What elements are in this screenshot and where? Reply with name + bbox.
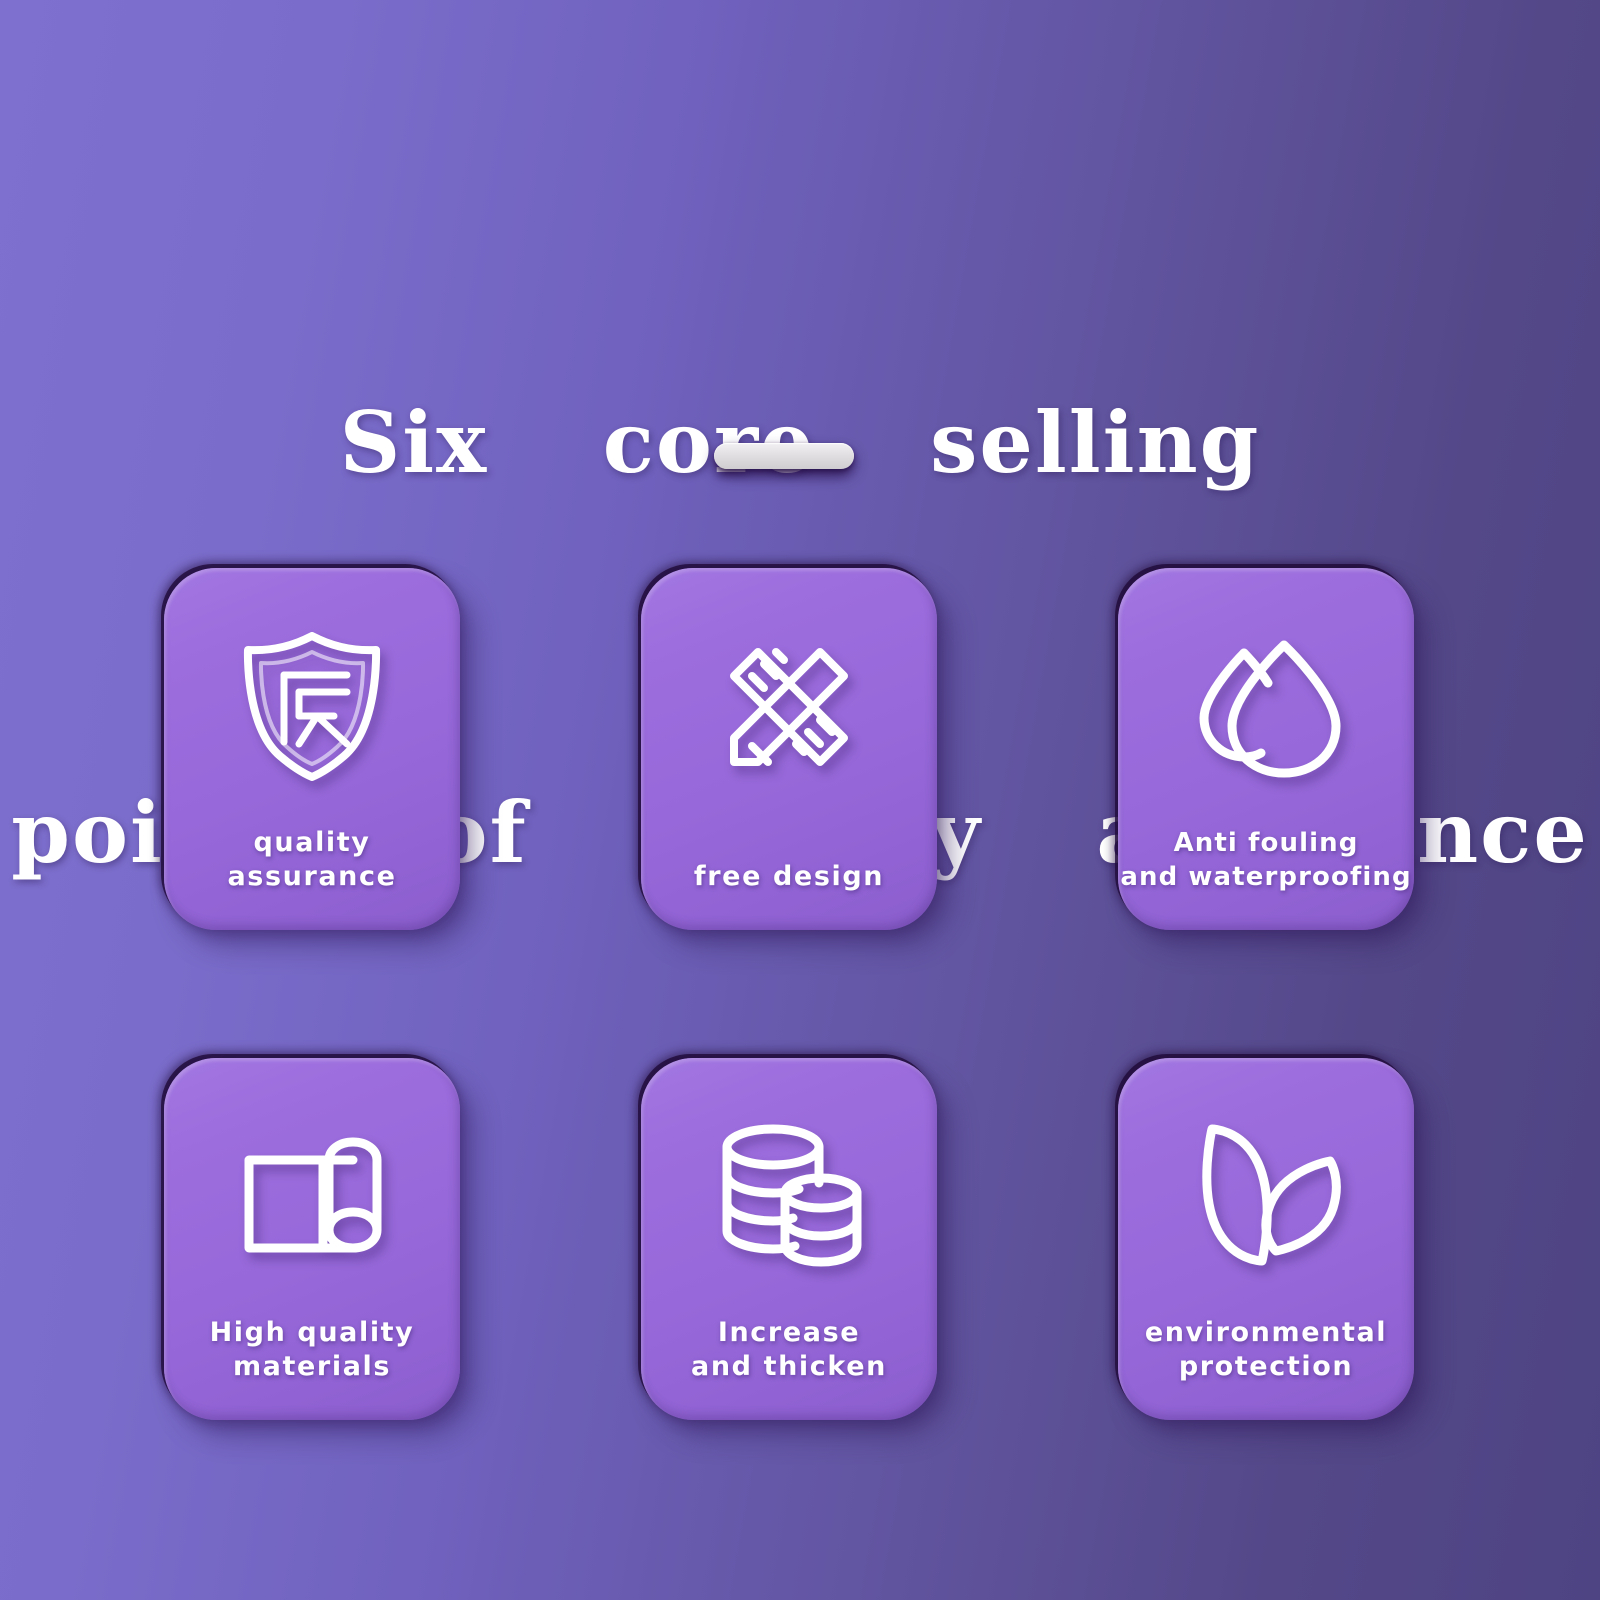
card-label: free design [615,860,963,894]
card-environmental-protection[interactable]: environmental protection [1118,1058,1414,1420]
card-increase-and-thicken[interactable]: Increase and thicken [641,1058,937,1420]
shield-quality-icon [164,616,460,796]
two-leaves-icon [1118,1106,1414,1286]
coin-stack-icon [641,1106,937,1286]
card-anti-fouling[interactable]: Anti fouling and waterproofing [1118,568,1414,930]
card-label: Increase and thicken [615,1316,963,1384]
ruler-pencil-icon [641,616,937,796]
title-divider-pill [714,443,854,469]
card-label: environmental protection [1092,1316,1440,1384]
water-droplets-icon [1118,616,1414,796]
card-label: quality assurance [138,826,486,894]
card-high-quality-materials[interactable]: High quality materials [164,1058,460,1420]
card-free-design[interactable]: free design [641,568,937,930]
card-quality-assurance[interactable]: quality assurance [164,568,460,930]
card-label: Anti fouling and waterproofing [1092,826,1440,894]
selling-points-grid: quality assurance free [164,568,1414,1420]
card-label: High quality materials [138,1316,486,1384]
fabric-roll-icon [164,1106,460,1286]
